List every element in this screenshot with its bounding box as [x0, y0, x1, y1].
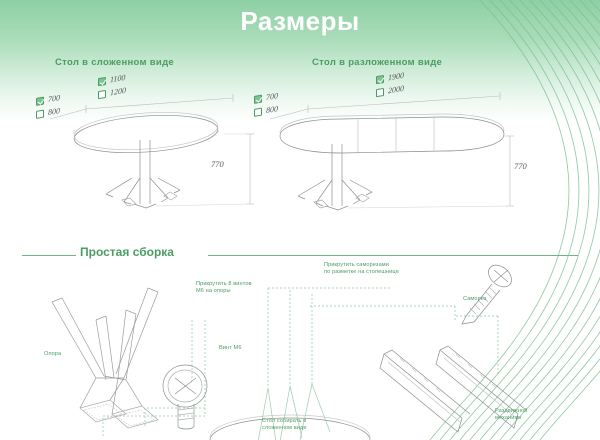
option-value: 1900 [388, 71, 404, 83]
page-root: Размеры Стол в сложенном виде Стол в раз… [0, 0, 600, 440]
depth-options-folded[interactable]: 700 800 [36, 92, 60, 122]
note-bolts: Прикрутить 8 винтов М6 на опоры [196, 281, 252, 295]
option-value: 800 [48, 106, 60, 117]
width-options-unfolded[interactable]: 1900 2000 [376, 70, 404, 100]
divider-line-right [208, 255, 578, 256]
option-row[interactable]: 1200 [98, 85, 126, 100]
option-row[interactable]: 800 [254, 103, 278, 118]
label-bolt: Винт М6 [219, 345, 242, 352]
checkbox-checked[interactable] [254, 94, 262, 103]
label-screw: Саморез [463, 296, 487, 303]
height-label-unfolded: 770 [514, 161, 527, 171]
option-value: 800 [266, 104, 278, 115]
option-value: 700 [48, 93, 60, 104]
checkbox-unchecked[interactable] [254, 107, 262, 116]
depth-options-unfolded[interactable]: 700 800 [254, 90, 278, 120]
checkbox-unchecked[interactable] [36, 109, 44, 118]
note-folded: Стол собирать в сложенном виде [262, 418, 307, 432]
page-title: Размеры [0, 6, 600, 37]
height-label-folded: 770 [211, 159, 224, 169]
width-options-folded[interactable]: 1100 1200 [98, 72, 126, 102]
checkbox-unchecked[interactable] [98, 89, 106, 98]
checkbox-checked[interactable] [98, 76, 106, 85]
option-value: 1100 [110, 73, 125, 84]
drawing-unfolded-table [246, 86, 546, 216]
label-mechanism: Раздвижной механизм [495, 408, 527, 422]
checkbox-unchecked[interactable] [376, 87, 384, 96]
assembly-title: Простая сборка [80, 245, 174, 259]
option-row[interactable]: 2000 [376, 83, 404, 98]
checkbox-checked[interactable] [376, 74, 384, 83]
checkbox-checked[interactable] [36, 96, 44, 105]
option-value: 2000 [388, 84, 404, 96]
label-support: Опора [44, 351, 61, 358]
note-screws: Прикрутить саморезами по разметке на сто… [324, 262, 399, 276]
option-row[interactable]: 800 [36, 105, 60, 120]
divider-line-left [22, 255, 76, 256]
section-title-unfolded: Стол в разложенном виде [312, 57, 442, 68]
section-title-folded: Стол в сложенном виде [55, 57, 174, 68]
option-value: 1200 [110, 86, 126, 98]
option-value: 700 [266, 91, 278, 102]
